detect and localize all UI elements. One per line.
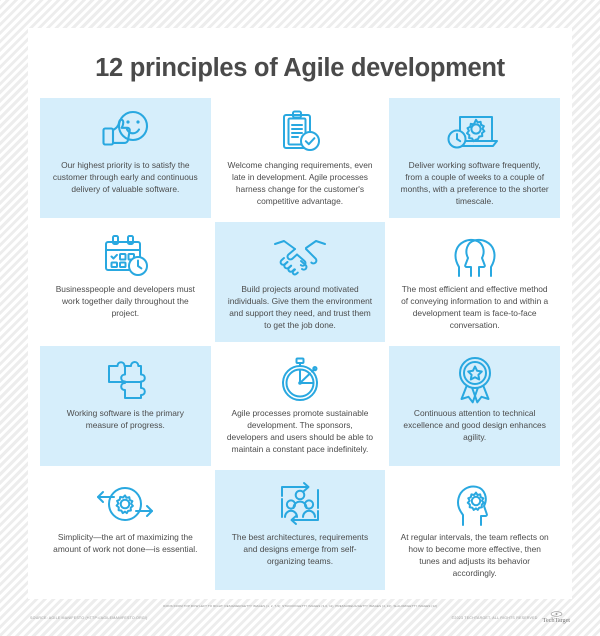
page-title: 12 principles of Agile development	[28, 28, 572, 98]
principle-card-4: Businesspeople and developers must work …	[40, 222, 211, 342]
principle-text: Deliver working software frequently, fro…	[398, 160, 551, 208]
laptop-gear-clock-icon	[446, 107, 504, 157]
principle-card-10: Simplicity—the art of maximizing the amo…	[40, 470, 211, 590]
head-gear-reflection-icon	[452, 479, 498, 529]
principle-text: Welcome changing requirements, even late…	[224, 160, 377, 208]
thumbs-up-smiley-icon	[95, 107, 155, 157]
principle-text: Continuous attention to technical excell…	[398, 408, 551, 444]
principles-grid: Our highest priority is to satisfy the c…	[28, 98, 572, 590]
principle-text: Businesspeople and developers must work …	[49, 284, 202, 320]
gear-cycle-arrows-icon	[94, 479, 156, 529]
principle-text: Agile processes promote sustainable deve…	[224, 408, 377, 456]
principle-text: At regular intervals, the team reflects …	[398, 532, 551, 580]
stopwatch-icon	[276, 355, 324, 405]
award-ribbon-star-icon	[452, 355, 498, 405]
principle-card-2: Welcome changing requirements, even late…	[215, 98, 386, 218]
principle-text: Build projects around motivated individu…	[224, 284, 377, 332]
principle-text: Our highest priority is to satisfy the c…	[49, 160, 202, 196]
clipboard-check-icon	[276, 107, 324, 157]
techtarget-logo-text: TechTarget	[543, 618, 570, 624]
principle-card-7: Working software is the primary measure …	[40, 346, 211, 466]
footer-brand-area: ©2023 TECHTARGET. ALL RIGHTS RESERVED Te…	[452, 611, 572, 624]
principle-card-3: Deliver working software frequently, fro…	[389, 98, 560, 218]
principle-text: The best architectures, requirements and…	[224, 532, 377, 568]
principle-card-1: Our highest priority is to satisfy the c…	[40, 98, 211, 218]
principle-card-12: At regular intervals, the team reflects …	[389, 470, 560, 590]
principle-card-11: The best architectures, requirements and…	[215, 470, 386, 590]
puzzle-pieces-icon	[100, 355, 150, 405]
calendar-clock-icon	[97, 231, 153, 281]
principle-card-5: Build projects around motivated individu…	[215, 222, 386, 342]
page-footer: SOURCE: AGILE MANIFESTO (HTTP://AGILEMAN…	[28, 605, 572, 631]
principle-text: Working software is the primary measure …	[49, 408, 202, 432]
source-citation: SOURCE: AGILE MANIFESTO (HTTP://AGILEMAN…	[28, 616, 148, 620]
principle-card-6: The most efficient and effective method …	[389, 222, 560, 342]
handshake-icon	[271, 231, 329, 281]
two-heads-conversation-icon	[447, 231, 503, 281]
copyright-notice: ©2023 TECHTARGET. ALL RIGHTS RESERVED	[452, 616, 538, 620]
principle-text: Simplicity—the art of maximizing the amo…	[49, 532, 202, 556]
principle-card-9: Continuous attention to technical excell…	[389, 346, 560, 466]
principle-card-8: Agile processes promote sustainable deve…	[215, 346, 386, 466]
self-organizing-team-icon	[274, 479, 326, 529]
techtarget-logo: TechTarget	[543, 611, 570, 624]
infographic-poster: 12 principles of Agile development Our h…	[28, 28, 572, 599]
principle-text: The most efficient and effective method …	[398, 284, 551, 332]
